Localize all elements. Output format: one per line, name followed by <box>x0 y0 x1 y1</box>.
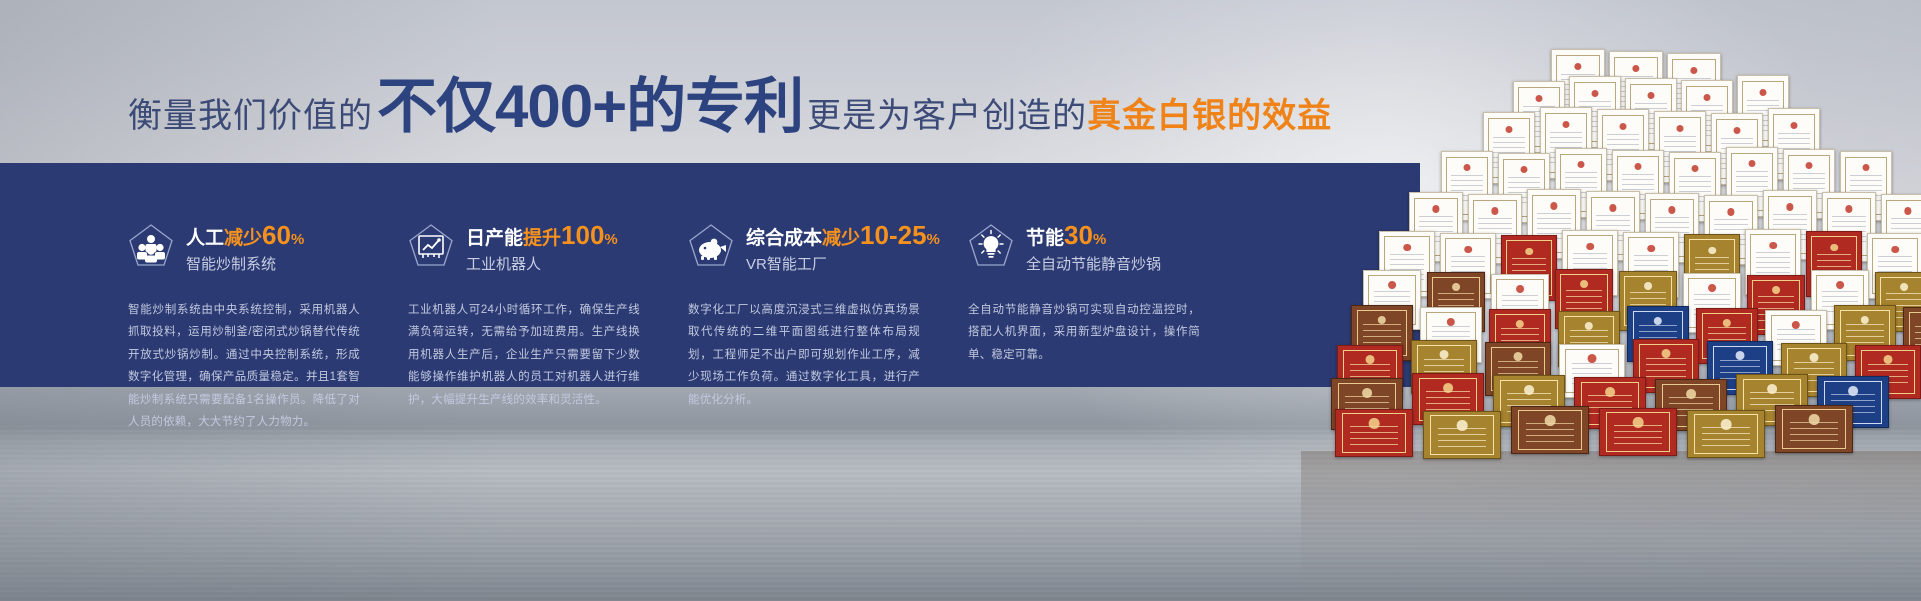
feature-subtitle: 工业机器人 <box>466 257 618 272</box>
feature-title-unit: % <box>1093 231 1106 248</box>
feature-panel: 人工减少60%智能炒制系统智能炒制系统由中央系统控制，采用机器人抓取投料，运用炒… <box>0 163 1420 387</box>
feature-title-prefix: 日产能 <box>466 228 523 249</box>
certificate-plaque <box>1335 409 1413 457</box>
piggy-bank-pentagon-icon <box>688 223 734 273</box>
feature-text: 人工减少60%智能炒制系统 <box>186 221 304 272</box>
feature-title-accent: 提升 <box>523 228 561 249</box>
feature-title-prefix: 节能 <box>1026 228 1064 249</box>
feature-title-number: 100 <box>561 220 604 250</box>
feature-header: 人工减少60%智能炒制系统 <box>128 221 374 273</box>
headline-lead: 衡量我们价值的 <box>128 88 373 137</box>
feature-item-4: 节能30%全自动节能静音炒锅全自动节能静音炒锅可实现自动控温控时，搭配人机界面，… <box>968 221 1214 387</box>
certificate-plaque <box>1775 405 1853 453</box>
promotional-banner: 衡量我们价值的 不仅400+的专利 更是为客户创造的 真金白银的效益 人工减少6… <box>0 0 1921 601</box>
feature-title-unit: % <box>927 231 940 248</box>
feature-header: 日产能提升100%工业机器人 <box>408 221 654 273</box>
feature-header: 节能30%全自动节能静音炒锅 <box>968 221 1214 273</box>
feature-item-2: 日产能提升100%工业机器人工业机器人可24小时循环工作，确保生产线满负荷运转，… <box>408 221 654 387</box>
lightbulb-pentagon-icon <box>968 223 1014 273</box>
feature-title-number: 60 <box>262 220 291 250</box>
feature-title-number: 10-25 <box>860 220 927 250</box>
certificate-plaque <box>1423 411 1501 459</box>
feature-title-unit: % <box>291 231 304 248</box>
feature-body: 数字化工厂以高度沉浸式三维虚拟仿真场景取代传统的二维平面图纸进行整体布局规划，工… <box>688 299 920 411</box>
feature-title: 综合成本减少10-25% <box>746 222 940 248</box>
feature-title-number: 30 <box>1064 220 1093 250</box>
feature-body: 智能炒制系统由中央系统控制，采用机器人抓取投料，运用炒制釜/密闭式炒锅替代传统开… <box>128 299 360 434</box>
feature-title-accent: 减少 <box>224 228 262 249</box>
feature-item-1: 人工减少60%智能炒制系统智能炒制系统由中央系统控制，采用机器人抓取投料，运用炒… <box>128 221 374 387</box>
feature-title-prefix: 综合成本 <box>746 228 822 249</box>
feature-title: 人工减少60% <box>186 222 304 248</box>
feature-list: 人工减少60%智能炒制系统智能炒制系统由中央系统控制，采用机器人抓取投料，运用炒… <box>0 163 1420 387</box>
chart-board-pentagon-icon <box>408 223 454 273</box>
certificate-wall <box>1301 0 1921 601</box>
certificate-plaque <box>1599 408 1677 456</box>
feature-subtitle: 智能炒制系统 <box>186 257 304 272</box>
feature-title: 日产能提升100% <box>466 222 618 248</box>
feature-text: 节能30%全自动节能静音炒锅 <box>1026 221 1161 272</box>
feature-header: 综合成本减少10-25%VR智能工厂 <box>688 221 934 273</box>
headline: 衡量我们价值的 不仅400+的专利 更是为客户创造的 真金白银的效益 <box>128 78 1332 137</box>
feature-subtitle: 全自动节能静音炒锅 <box>1026 257 1161 272</box>
feature-title-accent: 减少 <box>822 228 860 249</box>
feature-subtitle: VR智能工厂 <box>746 257 940 272</box>
feature-item-3: 综合成本减少10-25%VR智能工厂数字化工厂以高度沉浸式三维虚拟仿真场景取代传… <box>688 221 934 387</box>
feature-body: 全自动节能静音炒锅可实现自动控温控时，搭配人机界面，采用新型炉盘设计，操作简单、… <box>968 299 1200 366</box>
feature-text: 综合成本减少10-25%VR智能工厂 <box>746 221 940 272</box>
feature-body: 工业机器人可24小时循环工作，确保生产线满负荷运转，无需给予加班费用。生产线换用… <box>408 299 640 411</box>
feature-title-unit: % <box>604 231 617 248</box>
feature-text: 日产能提升100%工业机器人 <box>466 221 618 272</box>
certificate-plaque <box>1511 406 1589 454</box>
headline-emphasis: 不仅400+的专利 <box>373 78 807 135</box>
feature-title: 节能30% <box>1026 222 1161 248</box>
people-pentagon-icon <box>128 223 174 273</box>
headline-middle: 更是为客户创造的 <box>807 88 1087 137</box>
headline-highlight: 真金白银的效益 <box>1087 88 1332 137</box>
certificate-plaque <box>1687 410 1765 458</box>
feature-title-prefix: 人工 <box>186 228 224 249</box>
